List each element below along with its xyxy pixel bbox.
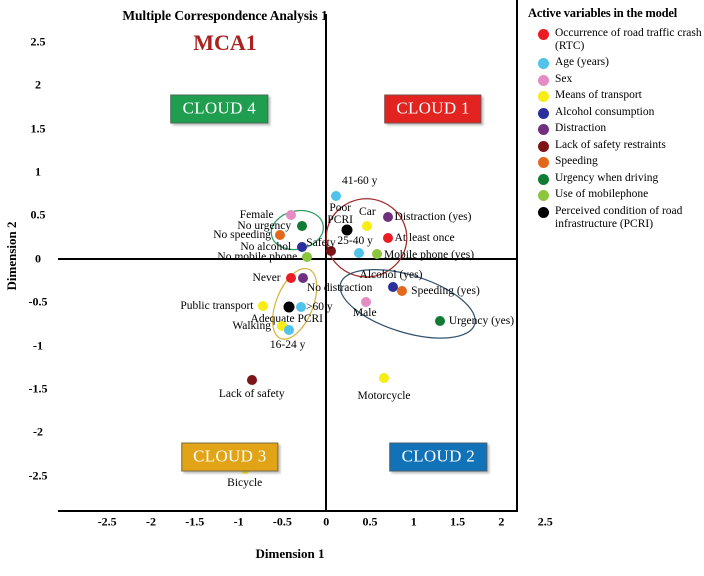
legend-swatch-icon <box>538 141 549 152</box>
scatter-point-label: Alcohol (yes) <box>360 269 423 281</box>
scatter-point-label: At least once <box>395 232 455 244</box>
scatter-point-label: 41-60 y <box>342 175 377 187</box>
legend-item[interactable]: Lack of safety restraints <box>528 139 704 152</box>
legend-swatch-icon <box>538 29 549 40</box>
scatter-point[interactable] <box>379 373 389 383</box>
scatter-point[interactable] <box>388 282 398 292</box>
legend-item[interactable]: Urgency when driving <box>528 172 704 185</box>
scatter-point[interactable] <box>331 191 341 201</box>
legend-swatch-icon <box>538 124 549 135</box>
scatter-point[interactable] <box>383 212 393 222</box>
x-tick: 2 <box>498 515 504 530</box>
legend-item[interactable]: Alcohol consumption <box>528 106 704 119</box>
legend-swatch-icon <box>538 91 549 102</box>
legend-swatch-icon <box>538 157 549 168</box>
scatter-point[interactable] <box>435 316 445 326</box>
legend-swatch-icon <box>538 207 549 218</box>
scatter-point[interactable] <box>284 302 295 313</box>
legend-item[interactable]: Occurrence of road traffic crash (RTC) <box>528 27 704 53</box>
cloud-badge-cloud-4: CLOUD 4 <box>171 95 268 124</box>
scatter-point-label: Urgency (yes) <box>449 315 514 327</box>
legend-swatch-icon <box>538 190 549 201</box>
scatter-point-label: Motorcycle <box>358 390 411 402</box>
x-axis-title: Dimension 1 <box>0 546 580 562</box>
legend-item[interactable]: Distraction <box>528 122 704 135</box>
y-tick: 2 <box>35 78 41 93</box>
legend: Active variables in the model Occurrence… <box>528 6 704 234</box>
y-tick: 1 <box>35 164 41 179</box>
cloud-badge-cloud-1: CLOUD 1 <box>384 95 481 124</box>
x-tick: 1 <box>411 515 417 530</box>
legend-title: Active variables in the model <box>528 6 704 21</box>
legend-swatch-icon <box>538 58 549 69</box>
legend-item-label: Speeding <box>555 155 598 168</box>
y-tick: -2 <box>33 425 43 440</box>
legend-item-label: Sex <box>555 73 572 86</box>
scatter-point[interactable] <box>284 325 294 335</box>
scatter-point-label: Never <box>253 272 281 284</box>
legend-item[interactable]: Perceived condition of road infrastructu… <box>528 205 704 231</box>
y-axis-title: Dimension 2 <box>4 196 20 316</box>
scatter-point-label: >60 y <box>306 301 333 313</box>
scatter-point-label: Bicycle <box>227 477 262 489</box>
legend-item[interactable]: Age (years) <box>528 56 704 69</box>
scatter-point-label: Male <box>353 306 377 318</box>
y-tick: -1 <box>33 338 43 353</box>
y-tick: -1.5 <box>29 381 48 396</box>
legend-swatch-icon <box>538 75 549 86</box>
x-tick: -1.5 <box>185 515 204 530</box>
scatter-point-label: 25-40 y <box>337 235 372 247</box>
legend-item-label: Age (years) <box>555 56 609 69</box>
x-tick: 0 <box>323 515 329 530</box>
legend-item-label: Urgency when driving <box>555 172 658 185</box>
y-tick: 1.5 <box>31 121 46 136</box>
scatter-point[interactable] <box>397 286 407 296</box>
x-tick: 2.5 <box>538 515 553 530</box>
scatter-point[interactable] <box>354 248 364 258</box>
y-tick: -0.5 <box>29 295 48 310</box>
scatter-point[interactable] <box>247 375 257 385</box>
legend-item-label: Occurrence of road traffic crash (RTC) <box>555 27 704 53</box>
cloud-badge-cloud-3: CLOUD 3 <box>181 442 278 471</box>
y-tick: 2.5 <box>31 34 46 49</box>
legend-swatch-icon <box>538 108 549 119</box>
legend-item-label: Means of transport <box>555 89 642 102</box>
plot-right-border <box>516 0 518 510</box>
scatter-point-label: Public transport <box>180 300 253 312</box>
scatter-point-label: No mobile phone <box>217 251 297 263</box>
scatter-point-label: No speeding <box>213 229 271 241</box>
scatter-point[interactable] <box>297 221 307 231</box>
legend-item-label: Alcohol consumption <box>555 106 654 119</box>
scatter-point-label: No distraction <box>307 282 372 294</box>
scatter-point[interactable] <box>302 252 312 262</box>
y-axis-line <box>325 14 327 510</box>
legend-items: Occurrence of road traffic crash (RTC)Ag… <box>528 27 704 231</box>
scatter-point-label: 16-24 y <box>270 339 305 351</box>
y-tick: -2.5 <box>29 468 48 483</box>
scatter-point-label: Speeding (yes) <box>411 285 480 297</box>
legend-item-label: Distraction <box>555 122 606 135</box>
x-tick: -2 <box>146 515 156 530</box>
scatter-point[interactable] <box>297 242 307 252</box>
scatter-point-label: Lack of safety <box>219 388 285 400</box>
x-tick: 1.5 <box>450 515 465 530</box>
legend-item[interactable]: Speeding <box>528 155 704 168</box>
legend-item[interactable]: Means of transport <box>528 89 704 102</box>
x-tick: -2.5 <box>98 515 117 530</box>
legend-item[interactable]: Sex <box>528 73 704 86</box>
plot-bottom-border <box>58 510 518 512</box>
scatter-point[interactable] <box>362 221 372 231</box>
scatter-point-label: PoorPCRI <box>327 202 353 226</box>
x-tick: -0.5 <box>273 515 292 530</box>
y-tick: 0.5 <box>31 208 46 223</box>
scatter-point[interactable] <box>342 225 353 236</box>
scatter-point[interactable] <box>275 230 285 240</box>
cloud-badge-cloud-2: CLOUD 2 <box>390 442 487 471</box>
scatter-point[interactable] <box>286 273 296 283</box>
mca-figure: Multiple Correspondence Analysis 1 MCA1 … <box>0 0 704 576</box>
x-tick: 0.5 <box>363 515 378 530</box>
scatter-point[interactable] <box>372 249 382 259</box>
legend-item-label: Use of mobilephone <box>555 188 648 201</box>
scatter-point[interactable] <box>258 301 268 311</box>
legend-item[interactable]: Use of mobilephone <box>528 188 704 201</box>
legend-item-label: Perceived condition of road infrastructu… <box>555 205 704 231</box>
scatter-point[interactable] <box>296 302 306 312</box>
scatter-point[interactable] <box>383 233 393 243</box>
legend-swatch-icon <box>538 174 549 185</box>
scatter-point-label: Safety <box>306 237 335 249</box>
legend-item-label: Lack of safety restraints <box>555 139 666 152</box>
scatter-point-label: Car <box>359 206 376 218</box>
scatter-point-label: Walking <box>232 320 271 332</box>
x-tick: -1 <box>234 515 244 530</box>
scatter-point-label: Mobile phone (yes) <box>384 249 474 261</box>
scatter-point-label: Distraction (yes) <box>395 211 472 223</box>
y-tick: 0 <box>35 251 41 266</box>
